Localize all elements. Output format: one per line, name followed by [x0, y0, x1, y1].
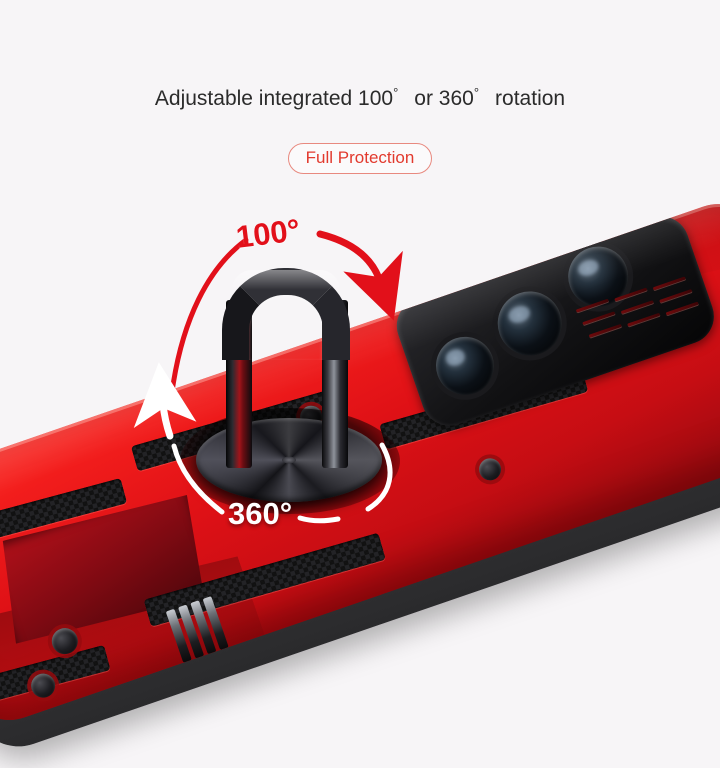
page-subtitle: Adjustable integrated 100°or 360°rotatio…	[0, 85, 720, 111]
ring-arch-highlight	[232, 270, 340, 290]
page-title: Ring Stand Rotating Easily	[0, 18, 720, 73]
ring-arch	[222, 268, 350, 468]
full-protection-badge: Full Protection	[288, 143, 433, 174]
subtitle-suffix: rotation	[495, 87, 565, 110]
subtitle-prefix: Adjustable integrated 100	[155, 87, 393, 110]
subtitle-middle: or 360	[414, 87, 474, 110]
badge-container: Full Protection	[0, 143, 720, 174]
degree-symbol: °	[474, 85, 479, 100]
degree-symbol: °	[393, 85, 398, 100]
header: Ring Stand Rotating Easily Adjustable in…	[0, 0, 720, 190]
